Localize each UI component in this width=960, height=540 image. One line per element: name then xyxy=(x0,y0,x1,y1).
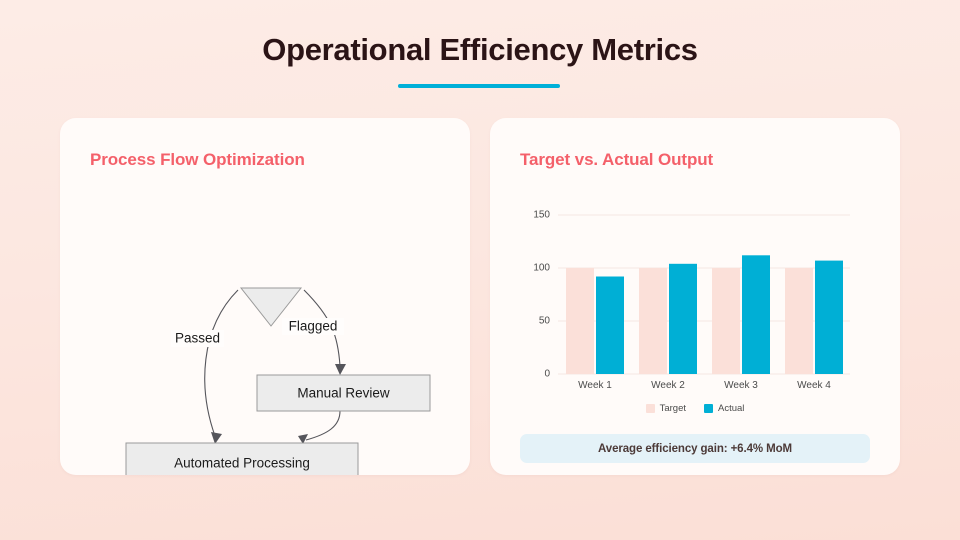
bar-target-week-4 xyxy=(785,268,813,374)
legend-swatch-actual xyxy=(704,404,713,413)
bar-actual-week-4 xyxy=(815,261,843,374)
target-vs-actual-card: Target vs. Actual Output 150 100 50 0 We… xyxy=(490,118,900,475)
x-tick-week-2: Week 2 xyxy=(651,380,685,391)
legend-swatch-target xyxy=(646,404,655,413)
chart-y-axis: 150 100 50 0 xyxy=(533,210,550,380)
y-tick-50: 50 xyxy=(539,316,551,327)
process-flow-diagram: Manual Review Automated Processing Passe… xyxy=(60,178,470,475)
bar-group-week-2: Week 2 xyxy=(639,264,697,391)
bar-group-week-4: Week 4 xyxy=(785,261,843,391)
flow-arrowhead-passed xyxy=(211,432,222,444)
y-tick-150: 150 xyxy=(533,210,550,221)
flow-edge-label-flagged: Flagged xyxy=(289,319,338,334)
efficiency-note-banner: Average efficiency gain: +6.4% MoM xyxy=(520,434,870,463)
bar-target-week-1 xyxy=(566,268,594,374)
page-title: Operational Efficiency Metrics xyxy=(0,32,960,68)
x-tick-week-4: Week 4 xyxy=(797,380,831,391)
legend-label-actual: Actual xyxy=(718,403,744,414)
bar-group-week-1: Week 1 xyxy=(566,268,624,391)
flow-node-automated-processing-label: Automated Processing xyxy=(174,456,310,471)
chart-legend: Target Actual xyxy=(490,403,900,414)
bar-chart: 150 100 50 0 Week 1 Week 2 Week 3 xyxy=(490,196,900,396)
x-tick-week-3: Week 3 xyxy=(724,380,758,391)
x-tick-week-1: Week 1 xyxy=(578,380,612,391)
process-flow-card: Process Flow Optimization Manual Review … xyxy=(60,118,470,475)
bar-target-week-2 xyxy=(639,268,667,374)
target-vs-actual-card-title: Target vs. Actual Output xyxy=(520,150,713,170)
bar-target-week-3 xyxy=(712,268,740,374)
flow-arrowhead-flagged xyxy=(335,364,346,375)
bar-actual-week-1 xyxy=(596,277,624,375)
process-flow-card-title: Process Flow Optimization xyxy=(90,150,305,170)
legend-item-actual: Actual xyxy=(704,403,744,414)
legend-item-target: Target xyxy=(646,403,686,414)
bar-actual-week-3 xyxy=(742,255,770,374)
legend-label-target: Target xyxy=(660,403,686,414)
y-tick-100: 100 xyxy=(533,263,550,274)
flow-edge-manual-to-automated xyxy=(306,411,340,440)
flow-node-manual-review-label: Manual Review xyxy=(297,386,390,401)
flow-edge-label-passed: Passed xyxy=(175,331,220,346)
bar-actual-week-2 xyxy=(669,264,697,374)
flow-edge-passed xyxy=(205,290,238,436)
y-tick-0: 0 xyxy=(544,369,550,380)
bar-group-week-3: Week 3 xyxy=(712,255,770,391)
title-accent-rule xyxy=(398,84,560,88)
